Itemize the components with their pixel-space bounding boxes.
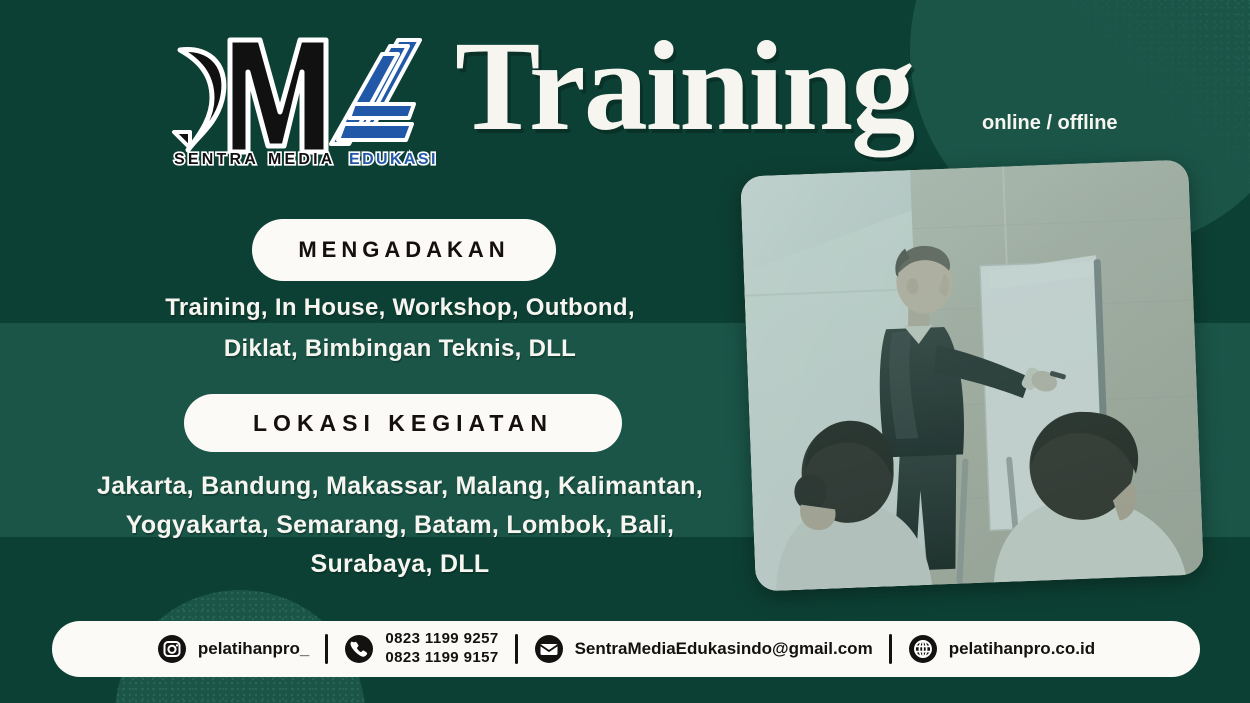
logo-wordmark-edukasindo: EDUKASINDO	[349, 151, 436, 168]
promo-banner: SENTRA MEDIA EDUKASINDO Training online …	[0, 0, 1250, 703]
contact-instagram[interactable]: pelatihanpro_	[141, 634, 325, 664]
contact-website[interactable]: pelatihanpro.co.id	[892, 634, 1111, 664]
locations-line-3: Surabaya, DLL	[40, 545, 760, 584]
phone-number-2: 0823 1199 9157	[385, 649, 498, 668]
services-line-1: Training, In House, Workshop, Outbond,	[40, 287, 760, 328]
locations-text: Jakarta, Bandung, Makassar, Malang, Kali…	[40, 467, 760, 584]
services-line-2: Diklat, Bimbingan Teknis, DLL	[40, 328, 760, 369]
badge-lokasi-kegiatan: LOKASI KEGIATAN	[184, 394, 622, 452]
logo-wordmark-sentra: SENTRA	[174, 151, 259, 168]
badge-mengadakan: MENGADAKAN	[252, 219, 556, 281]
website-url: pelatihanpro.co.id	[949, 639, 1095, 659]
contact-phone[interactable]: 0823 1199 9257 0823 1199 9157	[328, 630, 514, 668]
locations-line-2: Yogyakarta, Semarang, Batam, Lombok, Bal…	[40, 506, 760, 545]
globe-icon	[908, 634, 938, 664]
phone-numbers: 0823 1199 9257 0823 1199 9157	[385, 630, 498, 668]
page-title: Training	[455, 22, 913, 150]
company-logo: SENTRA MEDIA EDUKASINDO	[168, 28, 436, 168]
email-address: SentraMediaEdukasindo@gmail.com	[575, 639, 873, 659]
page-subtitle: online / offline	[982, 112, 1118, 135]
locations-line-1: Jakarta, Bandung, Makassar, Malang, Kali…	[40, 467, 760, 506]
logo-wordmark-media: MEDIA	[268, 151, 336, 168]
training-photo	[740, 160, 1204, 592]
phone-icon	[344, 634, 374, 664]
envelope-icon	[534, 634, 564, 664]
services-text: Training, In House, Workshop, Outbond, D…	[40, 287, 760, 369]
instagram-handle: pelatihanpro_	[198, 639, 309, 659]
contact-email[interactable]: SentraMediaEdukasindo@gmail.com	[518, 634, 889, 664]
contact-bar: pelatihanpro_ 0823 1199 9257 0823 1199 9…	[52, 621, 1200, 677]
instagram-icon	[157, 634, 187, 664]
phone-number-1: 0823 1199 9257	[385, 630, 498, 649]
